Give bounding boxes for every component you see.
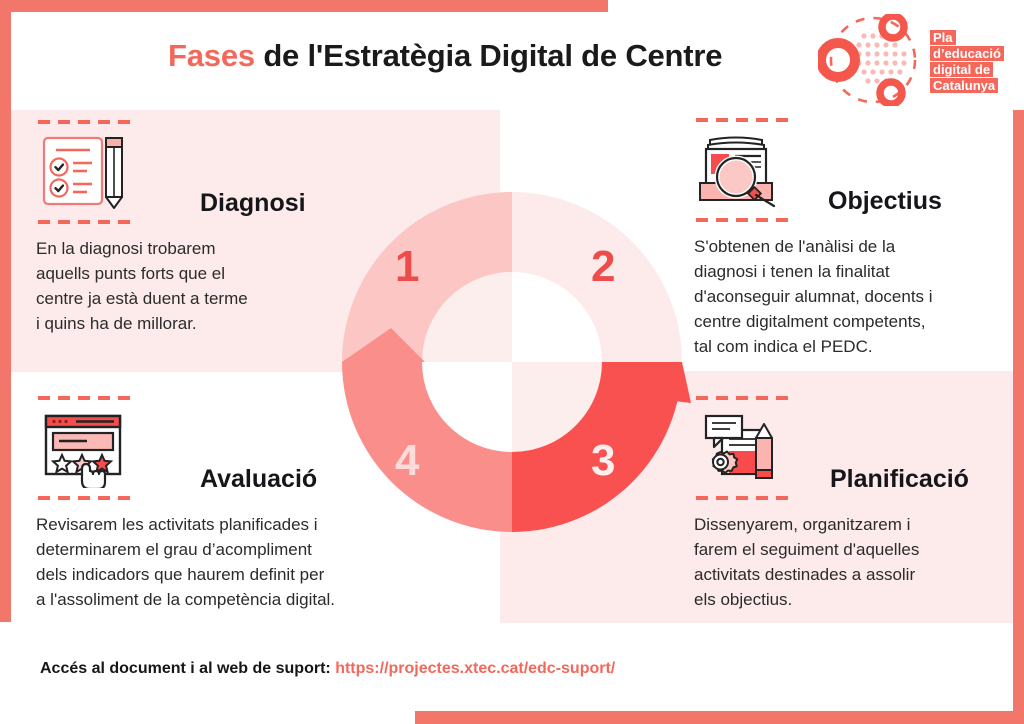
phase-block-objectius: Objectius S'obtenen de l'anàlisi de la d… <box>694 118 942 359</box>
page-title-highlight: Fases <box>168 38 255 73</box>
logo-line-3: digital de <box>930 62 993 77</box>
logo-wordmark: Pla d’educació digital de Catalunya <box>930 30 1004 93</box>
footer-note: Accés al document i al web de suport: ht… <box>40 660 615 678</box>
pedc-logo: Pla d’educació digital de Catalunya <box>818 14 1018 106</box>
phase-header-avaluacio: Avaluació <box>36 396 335 500</box>
phase-title-objectius: Objectius <box>828 187 942 216</box>
cycle-number-1: 1 <box>395 245 419 289</box>
cycle-number-3: 3 <box>591 439 615 483</box>
dashed-rule-bottom <box>38 220 138 224</box>
cycle-number-2: 2 <box>591 245 615 289</box>
infographic-canvas: Fases de l'Estratègia Digital de Centre … <box>0 0 1024 724</box>
dashed-rule-top <box>696 118 796 122</box>
page-title-rest: de l'Estratègia Digital de Centre <box>255 38 722 73</box>
phase-header-objectius: Objectius <box>694 118 942 222</box>
dashed-rule-bottom <box>696 496 796 500</box>
phase-block-diagnosi: Diagnosi En la diagnosi trobarem aquells… <box>36 120 306 336</box>
phase-body-avaluacio: Revisarem les activitats planificades i … <box>36 512 335 612</box>
icon-frame-diagnosi <box>36 120 148 224</box>
checklist-pencil-icon <box>40 132 140 212</box>
phase-body-planificacio: Dissenyarem, organitzarem i farem el seg… <box>694 512 969 612</box>
phase-header-diagnosi: Diagnosi <box>36 120 306 224</box>
logo-line-1: Pla <box>930 30 956 45</box>
decor-bar-top <box>0 0 608 12</box>
icon-frame-planificacio <box>694 396 806 500</box>
decor-bar-left <box>0 12 11 622</box>
four-phase-cycle-diagram: 1 2 3 4 <box>333 183 691 541</box>
icon-frame-avaluacio <box>36 396 148 500</box>
phase-title-diagnosi: Diagnosi <box>200 189 306 218</box>
dashed-rule-top <box>696 396 796 400</box>
dashed-rule-bottom <box>696 218 796 222</box>
decor-bar-bottom <box>415 711 1013 724</box>
dashed-rule-bottom <box>38 496 138 500</box>
gear-document-pencil-icon <box>698 408 798 488</box>
phase-header-planificacio: Planificació <box>694 396 969 500</box>
support-link[interactable]: https://projectes.xtec.cat/edc-suport/ <box>335 660 615 677</box>
dashed-rule-top <box>38 396 138 400</box>
phase-block-avaluacio: Avaluació Revisarem les activitats plani… <box>36 396 335 612</box>
logo-line-2: d’educació <box>930 46 1004 61</box>
phase-title-planificacio: Planificació <box>830 465 969 494</box>
icon-frame-objectius <box>694 118 806 222</box>
browser-stars-cursor-icon <box>40 408 140 488</box>
cycle-number-4: 4 <box>395 439 419 483</box>
cycle-ring-graphic <box>333 183 691 541</box>
dashed-rule-top <box>38 120 138 124</box>
phase-body-objectius: S'obtenen de l'anàlisi de la diagnosi i … <box>694 234 942 359</box>
document-magnifier-icon <box>698 130 798 210</box>
phase-title-avaluacio: Avaluació <box>200 465 317 494</box>
footer-label: Accés al document i al web de suport: <box>40 660 335 677</box>
decor-bar-right <box>1013 110 1024 724</box>
logo-line-4: Catalunya <box>930 78 998 93</box>
phase-block-planificacio: Planificació Dissenyarem, organitzarem i… <box>694 396 969 612</box>
phase-body-diagnosi: En la diagnosi trobarem aquells punts fo… <box>36 236 306 336</box>
page-title: Fases de l'Estratègia Digital de Centre <box>168 38 722 74</box>
